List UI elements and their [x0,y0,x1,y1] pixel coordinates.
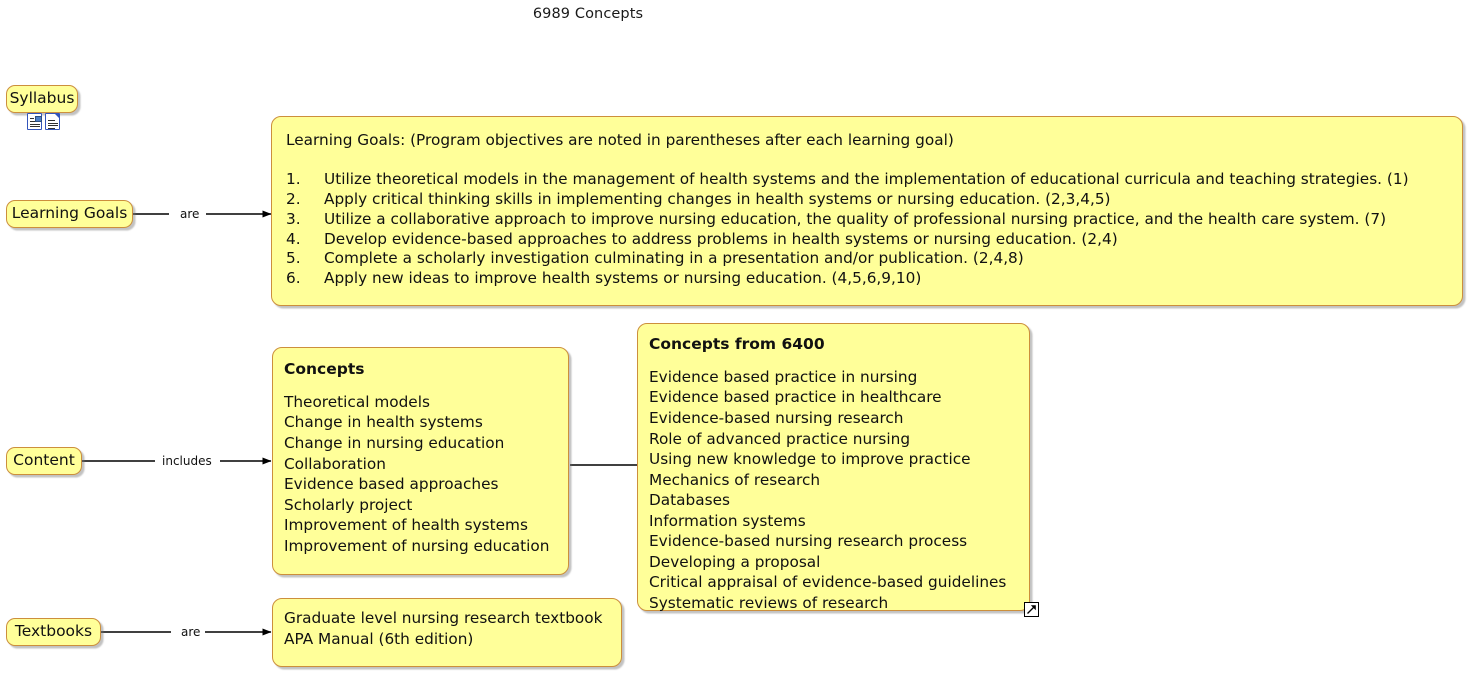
concepts-6400-item: Critical appraisal of evidence-based gui… [649,572,1017,593]
document-note-icon[interactable] [27,113,42,130]
box-learning-goals[interactable]: Learning Goals: (Program objectives are … [271,116,1463,306]
textbooks-item: APA Manual (6th edition) [284,629,609,650]
concepts-6400-item: Evidence based practice in nursing [649,367,1017,388]
concepts-item: Theoretical models [284,392,556,413]
textbooks-list: Graduate level nursing research textbook… [284,608,609,649]
node-syllabus-label: Syllabus [1,91,84,107]
concepts-6400-item: Information systems [649,511,1017,532]
node-content-label: Content [4,453,84,469]
learning-goal-number: 3. [286,210,324,230]
concepts-6400-item: Evidence-based nursing research [649,408,1017,429]
concepts-item: Collaboration [284,454,556,475]
concepts-6400-heading: Concepts from 6400 [649,335,1017,355]
learning-goal-item: 4. Develop evidence-based approaches to … [286,230,1448,250]
node-learning-goals[interactable]: Learning Goals [6,200,133,228]
syllabus-attachments [27,113,60,130]
concepts-6400-item: Role of advanced practice nursing [649,429,1017,450]
concepts-item: Change in health systems [284,412,556,433]
concepts-item: Scholarly project [284,495,556,516]
learning-goal-item: 2. Apply critical thinking skills in imp… [286,190,1448,210]
concepts-6400-item: Using new knowledge to improve practice [649,449,1017,470]
learning-goal-number: 5. [286,249,324,269]
concepts-item: Change in nursing education [284,433,556,454]
diagram-canvas: 6989 Concepts are includes are Syllabus [0,0,1470,673]
edge-label-textbooks: are [178,626,203,638]
learning-goal-item: 6. Apply new ideas to improve health sys… [286,269,1448,289]
learning-goal-text: Utilize a collaborative approach to impr… [324,210,1386,230]
edge-label-learning-goals: are [177,208,202,220]
learning-goal-item: 3. Utilize a collaborative approach to i… [286,210,1448,230]
edge-label-content: includes [159,455,215,467]
learning-goal-text: Complete a scholarly investigation culmi… [324,249,1024,269]
box-concepts-from-6400[interactable]: Concepts from 6400 Evidence based practi… [637,323,1030,611]
learning-goal-text: Develop evidence-based approaches to add… [324,230,1118,250]
box-concepts[interactable]: Concepts Theoretical models Change in he… [272,347,569,575]
concepts-6400-item: Mechanics of research [649,470,1017,491]
concepts-6400-item: Systematic reviews of research [649,593,1017,614]
concepts-6400-list: Evidence based practice in nursing Evide… [649,367,1017,614]
resize-arrow-icon[interactable] [1024,602,1039,617]
concepts-list: Theoretical models Change in health syst… [284,392,556,557]
learning-goal-number: 4. [286,230,324,250]
node-textbooks-label: Textbooks [6,624,101,640]
concepts-item: Evidence based approaches [284,474,556,495]
node-textbooks[interactable]: Textbooks [6,618,101,646]
node-content[interactable]: Content [6,447,82,475]
concepts-6400-item: Databases [649,490,1017,511]
concepts-item: Improvement of nursing education [284,536,556,557]
learning-goal-item: 1. Utilize theoretical models in the man… [286,170,1448,190]
node-learning-goals-label: Learning Goals [3,206,137,222]
textbooks-item: Graduate level nursing research textbook [284,608,609,629]
diagram-title: 6989 Concepts [0,6,1176,22]
learning-goal-number: 6. [286,269,324,289]
learning-goals-intro: Learning Goals: (Program objectives are … [286,131,1448,151]
learning-goal-text: Apply new ideas to improve health system… [324,269,921,289]
learning-goal-text: Utilize theoretical models in the manage… [324,170,1409,190]
node-syllabus[interactable]: Syllabus [6,85,78,113]
concepts-item: Improvement of health systems [284,515,556,536]
concepts-6400-item: Evidence based practice in healthcare [649,387,1017,408]
box-textbooks[interactable]: Graduate level nursing research textbook… [272,598,622,667]
concepts-6400-item: Evidence-based nursing research process [649,531,1017,552]
learning-goals-list: 1. Utilize theoretical models in the man… [286,170,1448,289]
learning-goal-item: 5. Complete a scholarly investigation cu… [286,249,1448,269]
learning-goal-number: 1. [286,170,324,190]
document-text-icon[interactable] [45,113,60,130]
learning-goal-text: Apply critical thinking skills in implem… [324,190,1111,210]
concepts-heading: Concepts [284,360,556,380]
learning-goal-number: 2. [286,190,324,210]
concepts-6400-item: Developing a proposal [649,552,1017,573]
